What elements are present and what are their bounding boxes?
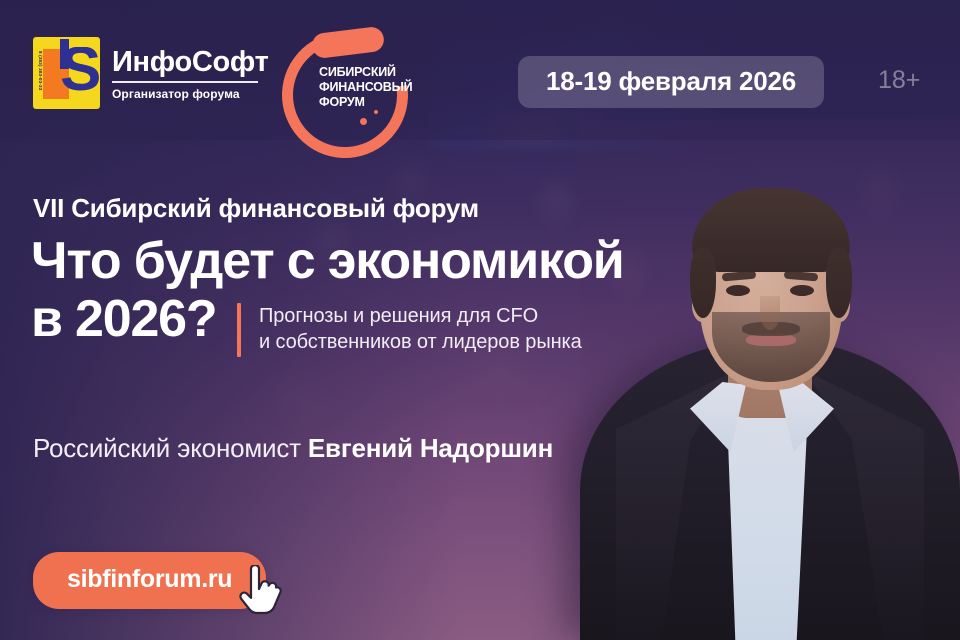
website-cta-label: sibfinforum.ru [67,565,232,593]
subtitle-line-1: Прогнозы и решения для CFO [259,303,582,329]
forum-edition-kicker: VII Сибирский финансовый форум [33,193,479,224]
organizer-name: ИнфоСофт [112,47,262,78]
portrait-hair [692,188,850,272]
portrait-eye-left [726,285,750,296]
speaker-portrait [580,120,960,640]
infosoft-logo-phone-microtext: 8 (383) 383-03-33 [36,51,44,97]
forum-logo-line-2: ФИНАНСОВЫЙ [319,80,409,95]
speaker-credit: Российский экономист Евгений Надоршин [33,433,553,464]
forum-logo-line-1: СИБИРСКИЙ [319,65,409,80]
infosoft-logo-icon: 8 (383) 383-03-33 S [33,37,100,109]
event-date-label: 18-19 февраля 2026 [546,66,796,96]
banner-header: 8 (383) 383-03-33 S ИнфоСофт Организатор… [0,0,960,140]
event-promo-banner: 8 (383) 383-03-33 S ИнфоСофт Организатор… [0,0,960,640]
age-rating-label: 18+ [878,66,920,95]
forum-logo: СИБИРСКИЙ ФИНАНСОВЫЙ ФОРУМ [282,26,404,136]
subtitle-line-2: и собственников от лидеров рынка [259,329,582,355]
organizer-role: Организатор форума [112,87,262,101]
website-cta-button[interactable]: sibfinforum.ru [33,552,266,609]
portrait-hair-right [826,248,852,318]
forum-logo-text: СИБИРСКИЙ ФИНАНСОВЫЙ ФОРУМ [319,65,409,110]
infosoft-logo-notch [69,37,89,47]
organizer-rule [112,81,258,83]
portrait-nose [760,296,780,330]
speaker-name: Евгений Надоршин [308,433,553,463]
portrait-hair-left [690,248,716,318]
subtitle-text: Прогнозы и решения для CFO и собственник… [259,303,582,355]
portrait-eye-right [790,285,814,296]
infosoft-logo-s-glyph: S [60,41,98,101]
headline-line-1: Что будет с экономикой [31,232,624,290]
organizer-wordmark: ИнфоСофт Организатор форума [112,47,262,101]
forum-logo-line-3: ФОРУМ [319,95,409,110]
event-date-badge: 18-19 февраля 2026 [518,56,824,108]
subtitle-divider-bar [237,303,241,357]
forum-dot-large-icon [360,118,367,125]
speaker-role: Российский экономист [33,433,308,463]
forum-dot-small-icon [374,110,378,114]
subtitle-block: Прогнозы и решения для CFO и собственник… [237,303,582,357]
